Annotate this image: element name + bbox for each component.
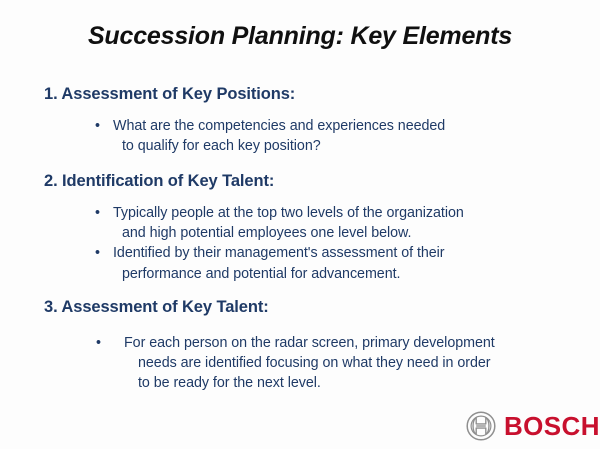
section-identification-of-key-talent: 2. Identification of Key Talent: •Typica… — [0, 171, 600, 284]
bullet-line: needs are identified focusing on what th… — [124, 353, 600, 373]
bosch-armature-icon — [466, 411, 496, 441]
section-heading: 3. Assessment of Key Talent: — [0, 297, 600, 318]
bullet-list: •Typically people at the top two levels … — [0, 203, 600, 284]
section-assessment-of-key-positions: 1. Assessment of Key Positions: •What ar… — [0, 84, 600, 156]
bullet-list: •For each person on the radar screen, pr… — [0, 333, 600, 394]
bullet-line: What are the competencies and experience… — [113, 118, 445, 134]
list-item: •What are the competencies and experienc… — [0, 116, 600, 157]
bullet-line: Typically people at the top two levels o… — [113, 205, 464, 221]
section-heading: 2. Identification of Key Talent: — [0, 171, 600, 192]
bullet-line: to qualify for each key position? — [113, 136, 600, 156]
slide-body: 1. Assessment of Key Positions: •What ar… — [0, 84, 600, 394]
bullet-line: and high potential employees one level b… — [113, 223, 600, 243]
bosch-wordmark: BOSCH — [504, 413, 600, 439]
list-item: •Identified by their management's assess… — [0, 243, 600, 284]
bullet-dot-icon: • — [110, 336, 124, 350]
bosch-logo: BOSCH — [466, 409, 600, 443]
section-assessment-of-key-talent: 3. Assessment of Key Talent: •For each p… — [0, 297, 600, 394]
slide-canvas: Succession Planning: Key Elements 1. Ass… — [0, 0, 600, 449]
list-item: •Typically people at the top two levels … — [0, 203, 600, 244]
bullet-dot-icon: • — [104, 246, 113, 260]
bullet-line: to be ready for the next level. — [124, 373, 600, 393]
section-heading: 1. Assessment of Key Positions: — [0, 84, 600, 105]
bullet-line: For each person on the radar screen, pri… — [124, 335, 495, 351]
bullet-line: performance and potential for advancemen… — [113, 264, 600, 284]
list-item: •For each person on the radar screen, pr… — [0, 333, 600, 394]
bullet-dot-icon: • — [104, 119, 113, 133]
bullet-list: •What are the competencies and experienc… — [0, 116, 600, 157]
bullet-dot-icon: • — [104, 206, 113, 220]
page-title: Succession Planning: Key Elements — [0, 22, 600, 51]
bullet-line: Identified by their management's assessm… — [113, 245, 445, 261]
